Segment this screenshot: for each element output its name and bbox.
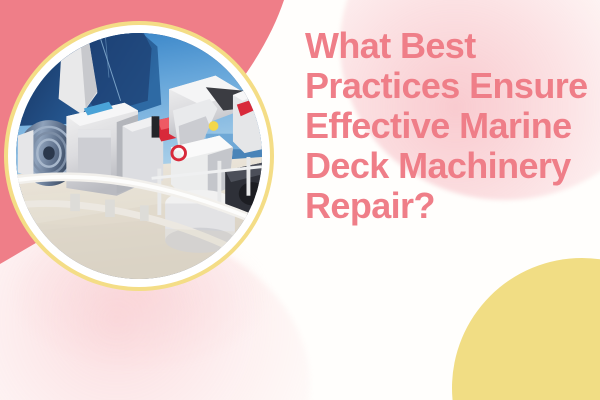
marine-machinery-photo — [16, 33, 262, 279]
page-title: What Best Practices Ensure Effective Mar… — [305, 26, 593, 226]
photo-frame-outer-ring — [4, 21, 274, 291]
marine-machinery-illustration — [16, 33, 262, 279]
photo-frame-inner-ring — [8, 25, 270, 287]
social-media-title-card: What Best Practices Ensure Effective Mar… — [0, 0, 600, 400]
